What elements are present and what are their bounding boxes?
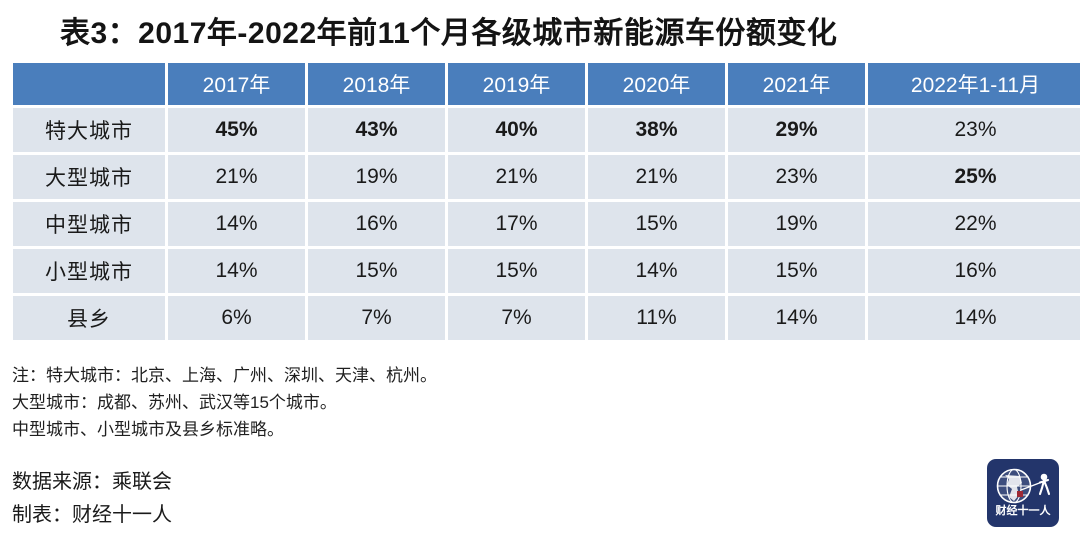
data-source-line: 数据来源：乘联会 xyxy=(12,466,172,499)
page-title: 表3：2017年-2022年前11个月各级城市新能源车份额变化 xyxy=(60,8,837,52)
table-row: 特大城市 45% 43% 40% 38% 29% 23% xyxy=(13,108,1080,152)
cell-countytown-2022: 14% xyxy=(868,296,1080,340)
cell-smallcity-2022: 16% xyxy=(868,249,1080,293)
cell-countytown-2019: 7% xyxy=(448,296,585,340)
cell-megacity-2018: 43% xyxy=(308,108,445,152)
cell-smallcity-2018: 15% xyxy=(308,249,445,293)
table-container: 2017年 2018年 2019年 2020年 2021年 2022年1-11月… xyxy=(10,60,1072,343)
cell-mediumcity-2018: 16% xyxy=(308,202,445,246)
source-block: 数据来源：乘联会 制表：财经十一人 xyxy=(12,466,172,532)
note-line-1: 注：特大城市：北京、上海、广州、深圳、天津、杭州。 xyxy=(12,362,832,389)
note-line-2: 大型城市：成都、苏州、武汉等15个城市。 xyxy=(12,389,832,416)
table-body: 特大城市 45% 43% 40% 38% 29% 23% 大型城市 21% 19… xyxy=(13,108,1080,340)
logo-label: 财经十一人 xyxy=(987,502,1059,518)
table-row: 小型城市 14% 15% 15% 14% 15% 16% xyxy=(13,249,1080,293)
table-notes: 注：特大城市：北京、上海、广州、深圳、天津、杭州。 大型城市：成都、苏州、武汉等… xyxy=(12,362,832,443)
cell-largecity-2022: 25% xyxy=(868,155,1080,199)
publisher-logo: 财经十一人 xyxy=(987,459,1059,527)
table-header-corner xyxy=(13,63,165,105)
cell-largecity-2021: 23% xyxy=(728,155,865,199)
cell-mediumcity-2022: 22% xyxy=(868,202,1080,246)
table-row: 县乡 6% 7% 7% 11% 14% 14% xyxy=(13,296,1080,340)
table-header-2022: 2022年1-11月 xyxy=(868,63,1080,105)
table-header-2017: 2017年 xyxy=(168,63,305,105)
cell-smallcity-2017: 14% xyxy=(168,249,305,293)
cell-mediumcity-2021: 19% xyxy=(728,202,865,246)
cell-megacity-2022: 23% xyxy=(868,108,1080,152)
chart-author-line: 制表：财经十一人 xyxy=(12,499,172,532)
cell-megacity-2020: 38% xyxy=(588,108,725,152)
cell-megacity-2017: 45% xyxy=(168,108,305,152)
cell-largecity-2020: 21% xyxy=(588,155,725,199)
row-label-smallcity: 小型城市 xyxy=(13,249,165,293)
table-header-2018: 2018年 xyxy=(308,63,445,105)
table-header: 2017年 2018年 2019年 2020年 2021年 2022年1-11月 xyxy=(13,63,1080,105)
table-row: 大型城市 21% 19% 21% 21% 23% 25% xyxy=(13,155,1080,199)
cell-smallcity-2019: 15% xyxy=(448,249,585,293)
cell-countytown-2020: 11% xyxy=(588,296,725,340)
cell-countytown-2018: 7% xyxy=(308,296,445,340)
table-header-2019: 2019年 xyxy=(448,63,585,105)
row-label-megacity: 特大城市 xyxy=(13,108,165,152)
cell-largecity-2017: 21% xyxy=(168,155,305,199)
cell-smallcity-2020: 14% xyxy=(588,249,725,293)
cell-countytown-2017: 6% xyxy=(168,296,305,340)
row-label-mediumcity: 中型城市 xyxy=(13,202,165,246)
cell-mediumcity-2020: 15% xyxy=(588,202,725,246)
table-header-2020: 2020年 xyxy=(588,63,725,105)
cell-megacity-2021: 29% xyxy=(728,108,865,152)
row-label-countytown: 县乡 xyxy=(13,296,165,340)
cell-mediumcity-2017: 14% xyxy=(168,202,305,246)
cell-smallcity-2021: 15% xyxy=(728,249,865,293)
cell-megacity-2019: 40% xyxy=(448,108,585,152)
row-label-largecity: 大型城市 xyxy=(13,155,165,199)
table-row: 中型城市 14% 16% 17% 15% 19% 22% xyxy=(13,202,1080,246)
note-line-3: 中型城市、小型城市及县乡标准略。 xyxy=(12,416,832,443)
cell-mediumcity-2019: 17% xyxy=(448,202,585,246)
share-table: 2017年 2018年 2019年 2020年 2021年 2022年1-11月… xyxy=(10,60,1080,343)
table-header-row: 2017年 2018年 2019年 2020年 2021年 2022年1-11月 xyxy=(13,63,1080,105)
cell-largecity-2018: 19% xyxy=(308,155,445,199)
cell-largecity-2019: 21% xyxy=(448,155,585,199)
table-header-2021: 2021年 xyxy=(728,63,865,105)
cell-countytown-2021: 14% xyxy=(728,296,865,340)
